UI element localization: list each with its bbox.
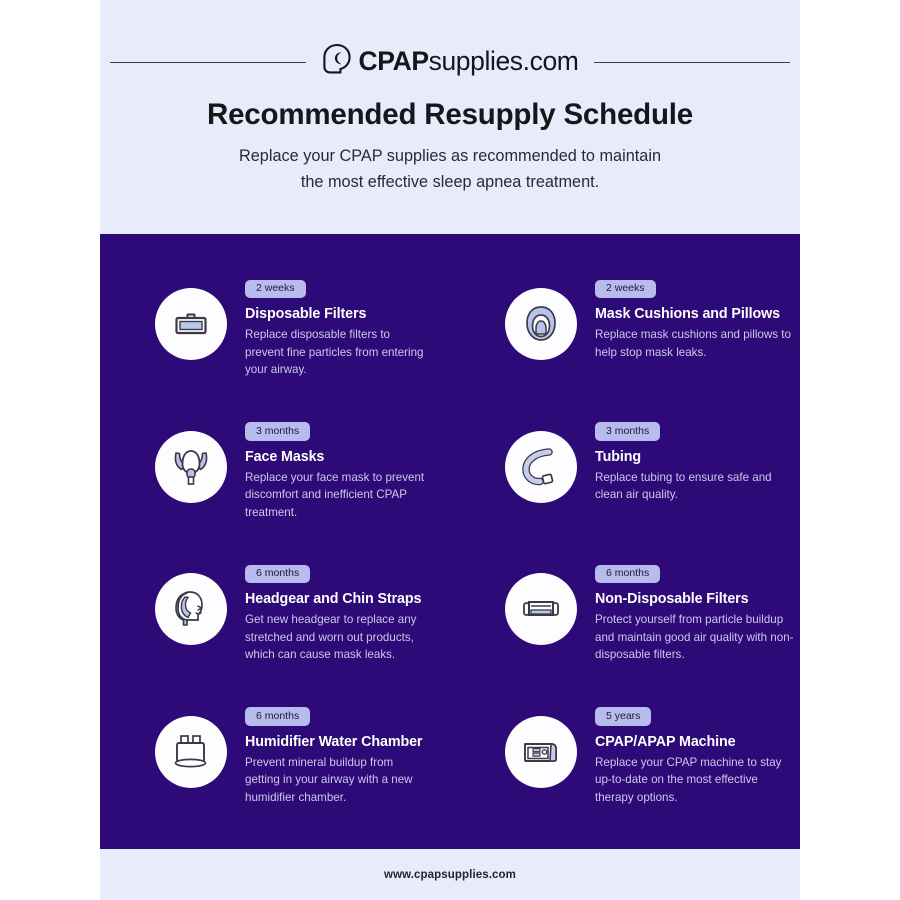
moon-bubble-icon — [322, 43, 352, 80]
item-text: 6 months Humidifier Water Chamber Preven… — [245, 706, 430, 807]
item-text: 6 months Non-Disposable Filters Protect … — [595, 563, 795, 664]
header: CPAPsupplies.com Recommended Resupply Sc… — [100, 0, 800, 234]
schedule-item-cpap-machine: 5 years CPAP/APAP Machine Replace your C… — [450, 662, 800, 805]
item-description: Replace tubing to ensure safe and clean … — [595, 469, 795, 504]
header-rule-left — [110, 62, 306, 63]
status-badge: 2 weeks — [595, 280, 656, 299]
schedule-item-disposable-filters: 2 weeks Disposable Filters Replace dispo… — [100, 234, 450, 377]
brand-logo: CPAPsupplies.com — [322, 43, 579, 80]
item-text: 6 months Headgear and Chin Straps Get ne… — [245, 563, 430, 664]
status-badge: 6 months — [245, 565, 310, 584]
page-subtitle: Replace your CPAP supplies as recommende… — [100, 143, 800, 195]
status-badge: 2 weeks — [245, 280, 306, 299]
humidifier-chamber-icon — [155, 716, 227, 788]
schedule-item-mask-cushions: 2 weeks Mask Cushions and Pillows Replac… — [450, 234, 800, 377]
item-description: Replace mask cushions and pillows to hel… — [595, 326, 795, 361]
item-text: 2 weeks Mask Cushions and Pillows Replac… — [595, 278, 795, 361]
page-subtitle-line2: the most effective sleep apnea treatment… — [100, 169, 800, 195]
headgear-icon — [155, 573, 227, 645]
footer-url[interactable]: www.cpapsupplies.com — [384, 869, 516, 881]
brand-name-regular: supplies.com — [429, 46, 579, 76]
brand-name-bold: CPAP — [359, 46, 429, 76]
item-description: Replace disposable filters to prevent fi… — [245, 326, 430, 379]
item-text: 3 months Face Masks Replace your face ma… — [245, 421, 430, 522]
status-badge: 6 months — [595, 565, 660, 584]
item-description: Replace your face mask to prevent discom… — [245, 469, 430, 522]
item-title: Humidifier Water Chamber — [245, 734, 430, 750]
item-text: 5 years CPAP/APAP Machine Replace your C… — [595, 706, 795, 807]
schedule-item-face-masks: 3 months Face Masks Replace your face ma… — [100, 377, 450, 520]
item-description: Protect yourself from particle buildup a… — [595, 611, 795, 664]
item-description: Get new headgear to replace any stretche… — [245, 611, 430, 664]
schedule-row: 2 weeks Disposable Filters Replace dispo… — [100, 234, 800, 377]
item-title: Mask Cushions and Pillows — [595, 306, 795, 322]
schedule-item-tubing: 3 months Tubing Replace tubing to ensure… — [450, 377, 800, 520]
schedule-row: 3 months Face Masks Replace your face ma… — [100, 377, 800, 520]
cpap-machine-icon — [505, 716, 577, 788]
item-text: 3 months Tubing Replace tubing to ensure… — [595, 421, 795, 504]
page-title: Recommended Resupply Schedule — [100, 98, 800, 132]
schedule-panel: 2 weeks Disposable Filters Replace dispo… — [100, 234, 800, 849]
item-title: Non-Disposable Filters — [595, 591, 795, 607]
page-subtitle-line1: Replace your CPAP supplies as recommende… — [100, 143, 800, 169]
header-rule-right — [594, 62, 790, 63]
schedule-row: 6 months Humidifier Water Chamber Preven… — [100, 662, 800, 805]
face-mask-icon — [155, 431, 227, 503]
item-title: Disposable Filters — [245, 306, 430, 322]
non-disposable-filter-icon — [505, 573, 577, 645]
item-text: 2 weeks Disposable Filters Replace dispo… — [245, 278, 430, 379]
schedule-item-headgear: 6 months Headgear and Chin Straps Get ne… — [100, 519, 450, 662]
item-title: Face Masks — [245, 449, 430, 465]
disposable-filter-icon — [155, 288, 227, 360]
schedule-item-non-disposable-filters: 6 months Non-Disposable Filters Protect … — [450, 519, 800, 662]
item-title: Headgear and Chin Straps — [245, 591, 430, 607]
footer: www.cpapsupplies.com — [100, 849, 800, 900]
status-badge: 6 months — [245, 707, 310, 726]
schedule-item-humidifier-chamber: 6 months Humidifier Water Chamber Preven… — [100, 662, 450, 805]
schedule-grid: 2 weeks Disposable Filters Replace dispo… — [100, 234, 800, 804]
item-title: CPAP/APAP Machine — [595, 734, 795, 750]
item-description: Replace your CPAP machine to stay up-to-… — [595, 754, 795, 807]
infographic-page: CPAPsupplies.com Recommended Resupply Sc… — [100, 0, 800, 900]
status-badge: 3 months — [245, 422, 310, 441]
brand-name: CPAPsupplies.com — [359, 46, 579, 77]
tubing-icon — [505, 431, 577, 503]
logo-row: CPAPsupplies.com — [100, 42, 800, 80]
status-badge: 3 months — [595, 422, 660, 441]
status-badge: 5 years — [595, 707, 651, 726]
item-title: Tubing — [595, 449, 795, 465]
mask-cushion-icon — [505, 288, 577, 360]
item-description: Prevent mineral buildup from getting in … — [245, 754, 430, 807]
schedule-row: 6 months Headgear and Chin Straps Get ne… — [100, 519, 800, 662]
